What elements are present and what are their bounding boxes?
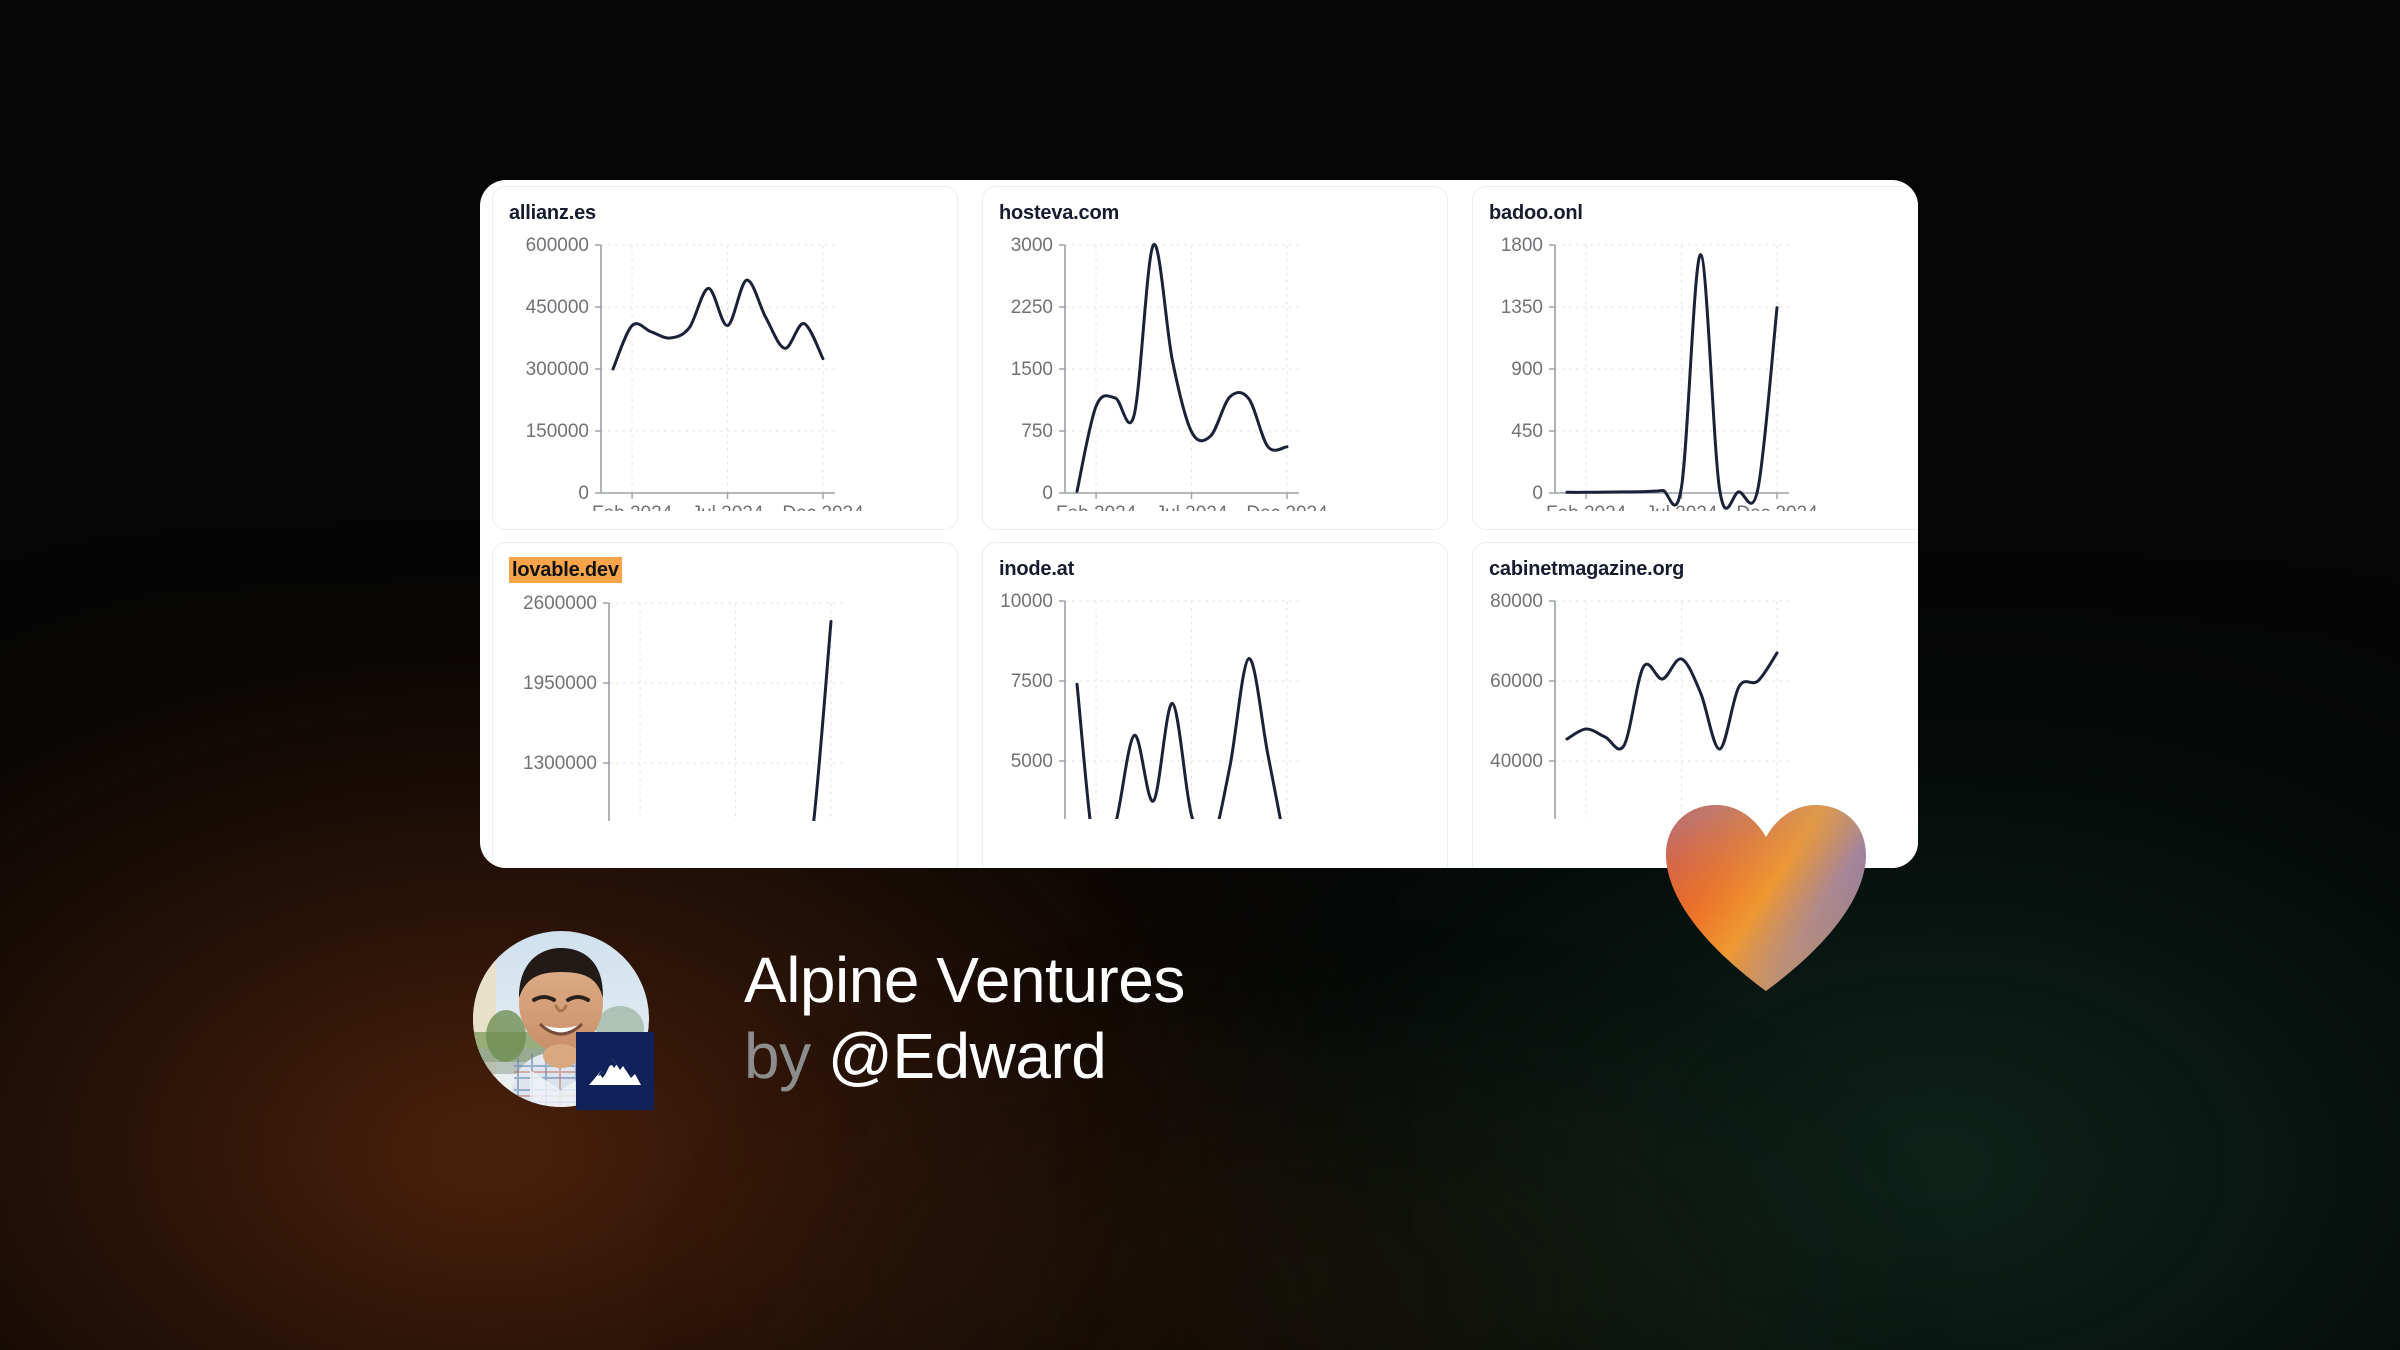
y-tick-label: 450 xyxy=(1511,421,1543,442)
x-tick-label: Dec 2024 xyxy=(782,503,864,511)
mountain-icon xyxy=(587,1051,643,1091)
line-chart: 0750150022503000Feb 2024Jul 2024Dec 2024 xyxy=(999,231,1448,511)
chart-panel-hosteva-com[interactable]: hosteva.com0750150022503000Feb 2024Jul 2… xyxy=(982,186,1448,530)
chart-panel-title: allianz.es xyxy=(509,201,596,225)
chart-plot-area: 0750150022503000Feb 2024Jul 2024Dec 2024 xyxy=(999,231,1447,511)
chart-panel-title: cabinetmagazine.org xyxy=(1489,557,1684,581)
y-tick-label: 10000 xyxy=(1000,591,1053,612)
y-tick-label: 1300000 xyxy=(523,753,597,774)
author-text-block: Alpine Ventures by @Edward xyxy=(744,943,1185,1094)
author-byline: by @Edward xyxy=(744,1019,1185,1095)
heart-logo xyxy=(1666,805,1866,995)
chart-line-series xyxy=(621,621,831,821)
avatar[interactable] xyxy=(470,928,652,1110)
line-chart: 130000019500002600000 xyxy=(509,589,958,821)
line-chart: 045090013501800Feb 2024Jul 2024Dec 2024 xyxy=(1489,231,1918,511)
line-chart: 5000750010000 xyxy=(999,587,1448,819)
chart-plot-area: 400006000080000 xyxy=(1489,587,1918,819)
chart-panel-allianz-es[interactable]: allianz.es0150000300000450000600000Feb 2… xyxy=(492,186,958,530)
line-chart: 400006000080000 xyxy=(1489,587,1918,819)
y-tick-label: 300000 xyxy=(526,359,589,380)
chart-plot-area: 130000019500002600000 xyxy=(509,589,957,821)
y-tick-label: 1500 xyxy=(1011,359,1053,380)
chart-panel-title: badoo.onl xyxy=(1489,201,1583,225)
x-tick-label: Jul 2024 xyxy=(1646,503,1718,511)
x-tick-label: Dec 2024 xyxy=(1246,503,1328,511)
y-tick-label: 600000 xyxy=(526,235,589,256)
chart-panel-inode-at[interactable]: inode.at5000750010000 xyxy=(982,542,1448,868)
y-tick-label: 900 xyxy=(1511,359,1543,380)
chart-plot-area: 0150000300000450000600000Feb 2024Jul 202… xyxy=(509,231,957,511)
y-tick-label: 1950000 xyxy=(523,673,597,694)
y-tick-label: 60000 xyxy=(1490,671,1543,692)
dashboard-card: allianz.es0150000300000450000600000Feb 2… xyxy=(480,180,1918,868)
y-tick-label: 80000 xyxy=(1490,591,1543,612)
chart-line-series xyxy=(1077,244,1287,491)
chart-panel-title: inode.at xyxy=(999,557,1074,581)
chart-panel-title: hosteva.com xyxy=(999,201,1119,225)
page-title: Alpine Ventures xyxy=(744,943,1185,1019)
x-tick-label: Feb 2024 xyxy=(1546,503,1627,511)
y-tick-label: 750 xyxy=(1021,421,1053,442)
y-tick-label: 40000 xyxy=(1490,751,1543,772)
chart-plot-area: 5000750010000 xyxy=(999,587,1447,819)
mountain-logo-badge xyxy=(576,1032,654,1110)
y-tick-label: 2600000 xyxy=(523,593,597,614)
author-footer: Alpine Ventures by @Edward xyxy=(470,928,1185,1110)
chart-line-series xyxy=(1567,653,1777,749)
chart-panel-badoo-onl[interactable]: badoo.onl045090013501800Feb 2024Jul 2024… xyxy=(1472,186,1918,530)
y-tick-label: 3000 xyxy=(1011,235,1053,256)
x-tick-label: Jul 2024 xyxy=(692,503,764,511)
x-tick-label: Dec 2024 xyxy=(1736,503,1818,511)
chart-panel-grid: allianz.es0150000300000450000600000Feb 2… xyxy=(480,180,1918,868)
y-tick-label: 450000 xyxy=(526,297,589,318)
chart-line-series xyxy=(1077,659,1287,819)
chart-line-series xyxy=(1567,255,1777,509)
y-tick-label: 7500 xyxy=(1011,671,1053,692)
x-tick-label: Jul 2024 xyxy=(1156,503,1228,511)
x-tick-label: Feb 2024 xyxy=(592,503,673,511)
y-tick-label: 1350 xyxy=(1501,297,1543,318)
author-handle[interactable]: @Edward xyxy=(828,1020,1106,1092)
chart-plot-area: 045090013501800Feb 2024Jul 2024Dec 2024 xyxy=(1489,231,1918,511)
chart-panel-lovable-dev[interactable]: lovable.dev130000019500002600000 xyxy=(492,542,958,868)
chart-panel-title: lovable.dev xyxy=(509,557,622,583)
y-tick-label: 1800 xyxy=(1501,235,1543,256)
y-tick-label: 0 xyxy=(1042,483,1053,504)
y-tick-label: 2250 xyxy=(1011,297,1053,318)
chart-line-series xyxy=(613,280,823,369)
line-chart: 0150000300000450000600000Feb 2024Jul 202… xyxy=(509,231,958,511)
y-tick-label: 0 xyxy=(1532,483,1543,504)
y-tick-label: 0 xyxy=(578,483,589,504)
y-tick-label: 150000 xyxy=(526,421,589,442)
x-tick-label: Feb 2024 xyxy=(1056,503,1137,511)
y-tick-label: 5000 xyxy=(1011,751,1053,772)
byline-by-label: by xyxy=(744,1020,811,1092)
